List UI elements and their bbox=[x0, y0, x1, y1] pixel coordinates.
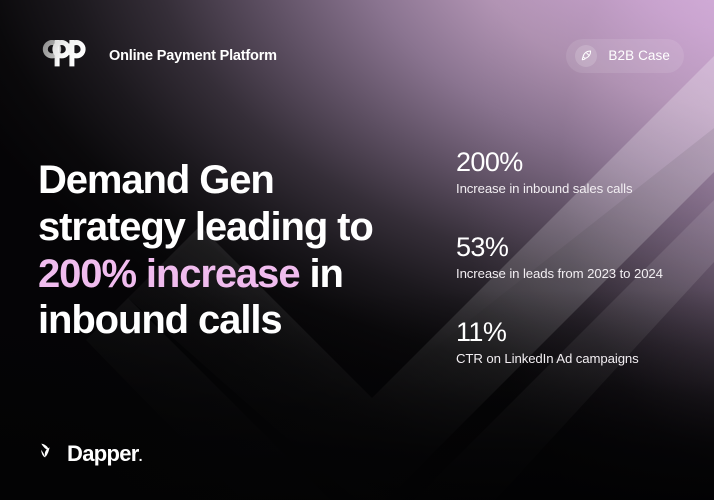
footer-brand-dot: . bbox=[139, 448, 142, 464]
brand-lockup: Online Payment Platform bbox=[38, 38, 277, 73]
headline-line-1: Demand Gen bbox=[38, 158, 274, 202]
stat-label: Increase in leads from 2023 to 2024 bbox=[456, 266, 706, 283]
stat-label: Increase in inbound sales calls bbox=[456, 181, 706, 198]
brand-name: Online Payment Platform bbox=[109, 48, 277, 64]
headline-line-2: strategy leading to bbox=[38, 205, 373, 249]
stats-list: 200% Increase in inbound sales calls 53%… bbox=[456, 148, 706, 367]
slide-header: Online Payment Platform B2B Case bbox=[38, 38, 684, 73]
case-study-slide: Online Payment Platform B2B Case Demand … bbox=[0, 0, 714, 500]
opp-logo-icon bbox=[38, 38, 96, 73]
page-title: Demand Gen strategy leading to 200% incr… bbox=[38, 157, 428, 344]
stat-value: 200% bbox=[456, 148, 706, 177]
slide-content: Online Payment Platform B2B Case Demand … bbox=[0, 0, 714, 500]
dapper-leaf-icon bbox=[38, 440, 60, 467]
footer-brand-name: Dapper. bbox=[67, 441, 142, 467]
stat-item: 53% Increase in leads from 2023 to 2024 bbox=[456, 233, 706, 282]
stat-item: 11% CTR on LinkedIn Ad campaigns bbox=[456, 318, 706, 367]
stat-label: CTR on LinkedIn Ad campaigns bbox=[456, 351, 706, 368]
headline-line-4: inbound calls bbox=[38, 298, 282, 342]
footer-brand-text: Dapper bbox=[67, 441, 139, 466]
stat-item: 200% Increase in inbound sales calls bbox=[456, 148, 706, 197]
rocket-icon bbox=[575, 45, 597, 67]
status-badge-label: B2B Case bbox=[608, 48, 670, 63]
footer-logo-lockup: Dapper. bbox=[38, 440, 142, 467]
stat-value: 11% bbox=[456, 318, 706, 347]
status-badge[interactable]: B2B Case bbox=[566, 39, 684, 73]
headline-accent: 200% increase bbox=[38, 252, 299, 296]
headline-line-3-tail: in bbox=[299, 252, 342, 296]
stat-value: 53% bbox=[456, 233, 706, 262]
